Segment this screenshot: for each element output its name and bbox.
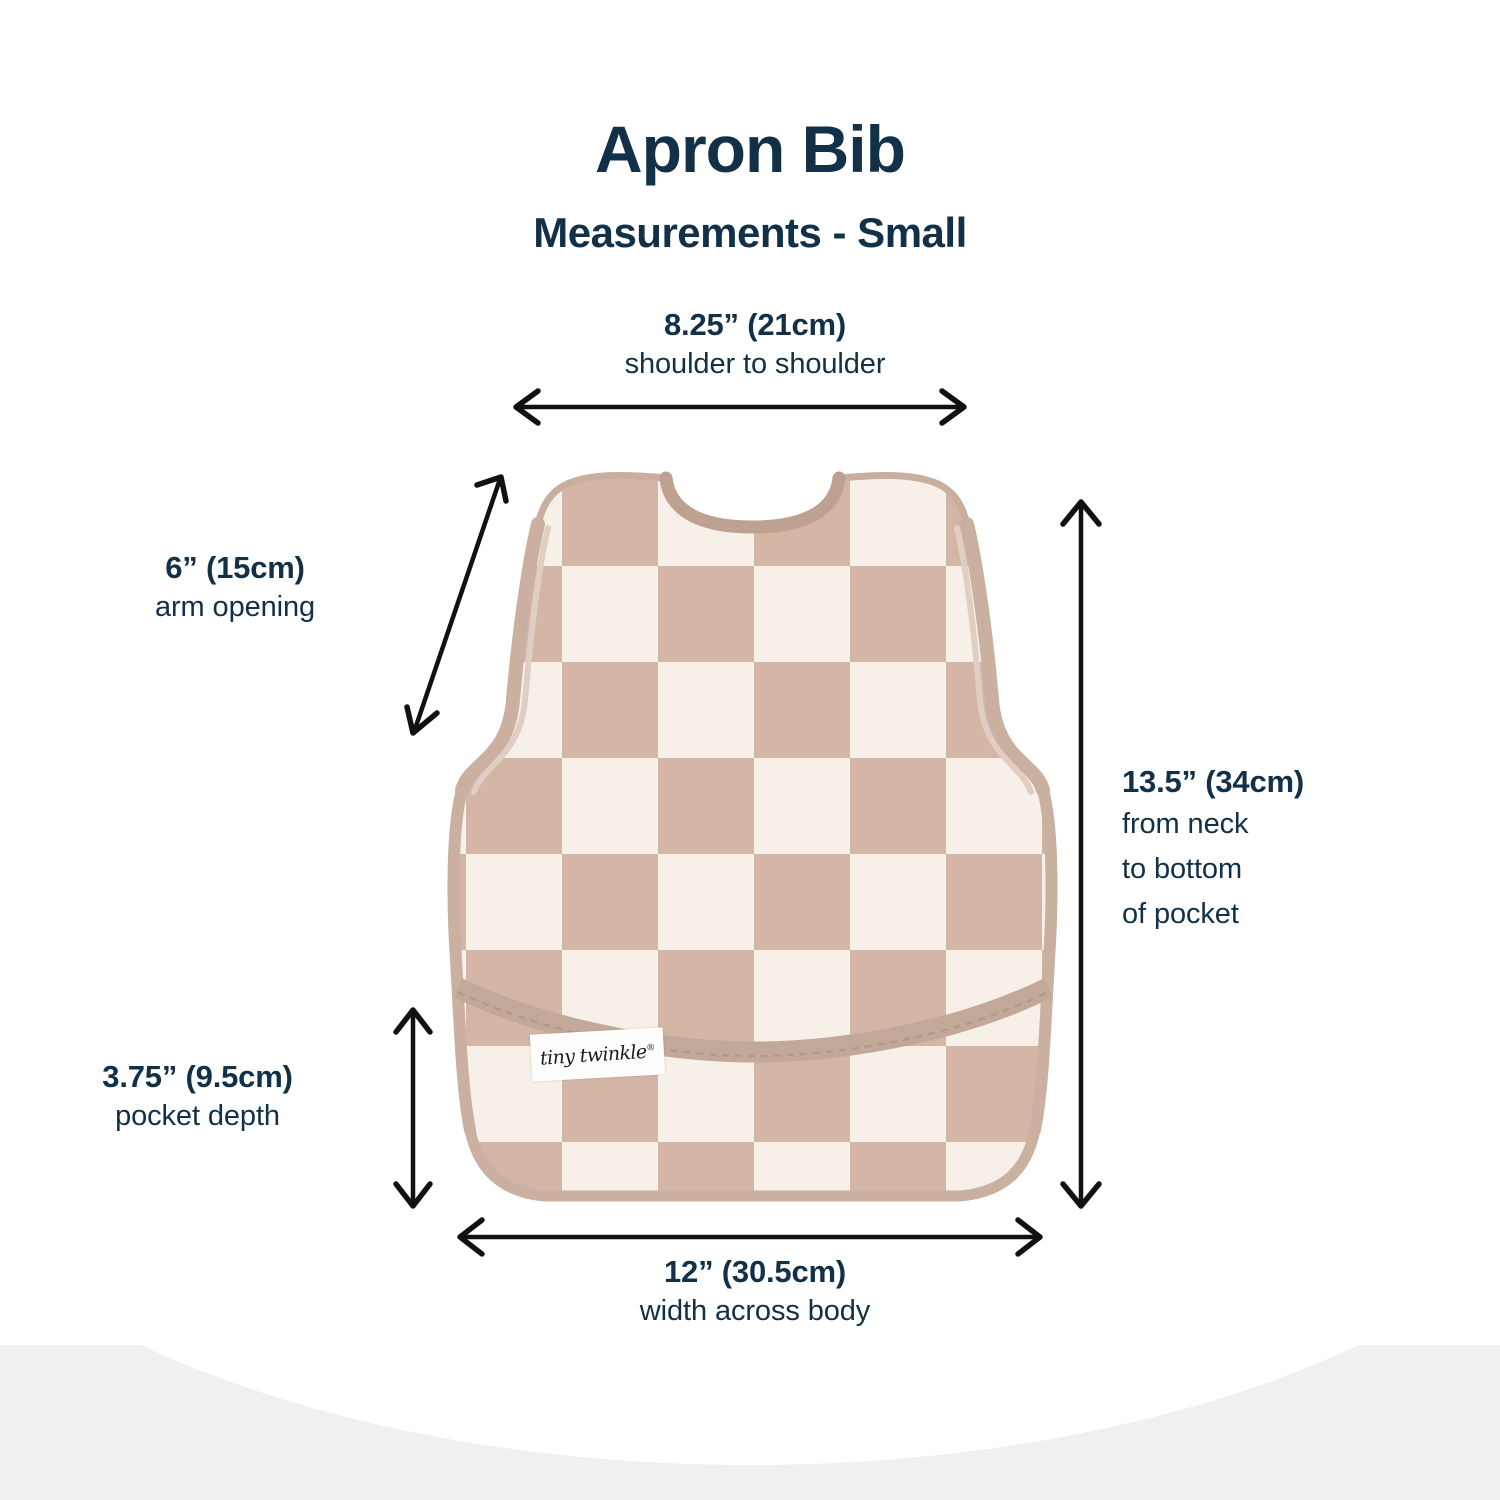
- measurement-label-arm-opening: 6” (15cm) arm opening: [30, 548, 440, 626]
- measurement-desc-width: width across body: [370, 1292, 1140, 1330]
- measurement-value-pocket-depth: 3.75” (9.5cm): [10, 1057, 385, 1097]
- measurement-label-pocket-depth: 3.75” (9.5cm) pocket depth: [10, 1057, 385, 1135]
- measurement-desc-arm-opening: arm opening: [30, 588, 440, 626]
- measurement-value-width: 12” (30.5cm): [370, 1252, 1140, 1292]
- measurement-label-neck-to-pocket: 13.5” (34cm) from neck to bottom of pock…: [1122, 762, 1452, 937]
- measurement-desc-neck-to-pocket-line-2: to bottom: [1122, 847, 1452, 892]
- brand-tag-text: tiny twinkle®: [539, 1040, 655, 1069]
- diagram-stage: Apron Bib Measurements - Small: [0, 0, 1500, 1500]
- measurement-value-shoulder: 8.25” (21cm): [370, 305, 1140, 345]
- measurement-desc-neck-to-pocket-line-1: from neck: [1122, 802, 1452, 847]
- arrow-pocket-depth: [396, 1010, 430, 1206]
- measurement-value-neck-to-pocket: 13.5” (34cm): [1122, 762, 1452, 802]
- bib-body: [430, 460, 1080, 1220]
- arrow-neck-to-pocket: [1063, 502, 1099, 1206]
- footer-band: [0, 1345, 1500, 1500]
- arrow-width-across-body: [460, 1220, 1040, 1254]
- measurement-label-width: 12” (30.5cm) width across body: [370, 1252, 1140, 1330]
- measurement-value-arm-opening: 6” (15cm): [30, 548, 440, 588]
- measurement-label-shoulder: 8.25” (21cm) shoulder to shoulder: [370, 305, 1140, 383]
- footer-curve: [0, 1345, 1500, 1465]
- arrow-shoulder-to-shoulder: [516, 391, 964, 423]
- measurement-desc-pocket-depth: pocket depth: [10, 1097, 385, 1135]
- measurement-desc-neck-to-pocket-line-3: of pocket: [1122, 892, 1452, 937]
- measurement-desc-shoulder: shoulder to shoulder: [370, 345, 1140, 383]
- brand-tag: tiny twinkle®: [530, 1027, 665, 1081]
- registered-mark-icon: ®: [646, 1042, 655, 1053]
